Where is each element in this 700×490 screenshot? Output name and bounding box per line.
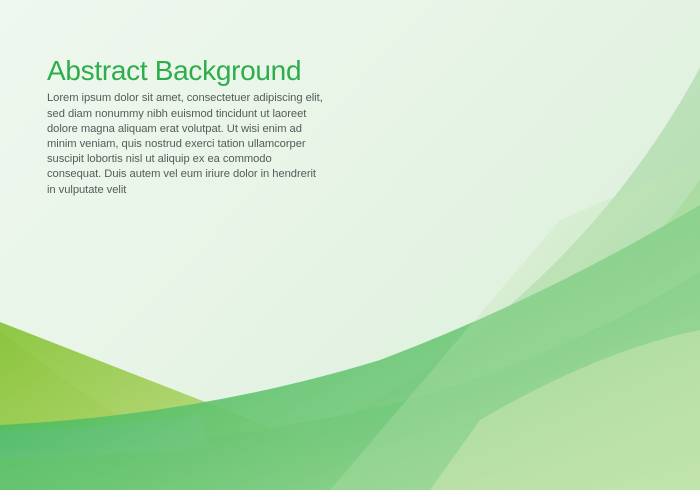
page-title: Abstract Background bbox=[47, 56, 325, 85]
body-paragraph: Lorem ipsum dolor sit amet, consectetuer… bbox=[47, 91, 325, 197]
text-block: Abstract Background Lorem ipsum dolor si… bbox=[47, 56, 325, 198]
abstract-background-canvas: Abstract Background Lorem ipsum dolor si… bbox=[0, 0, 700, 490]
